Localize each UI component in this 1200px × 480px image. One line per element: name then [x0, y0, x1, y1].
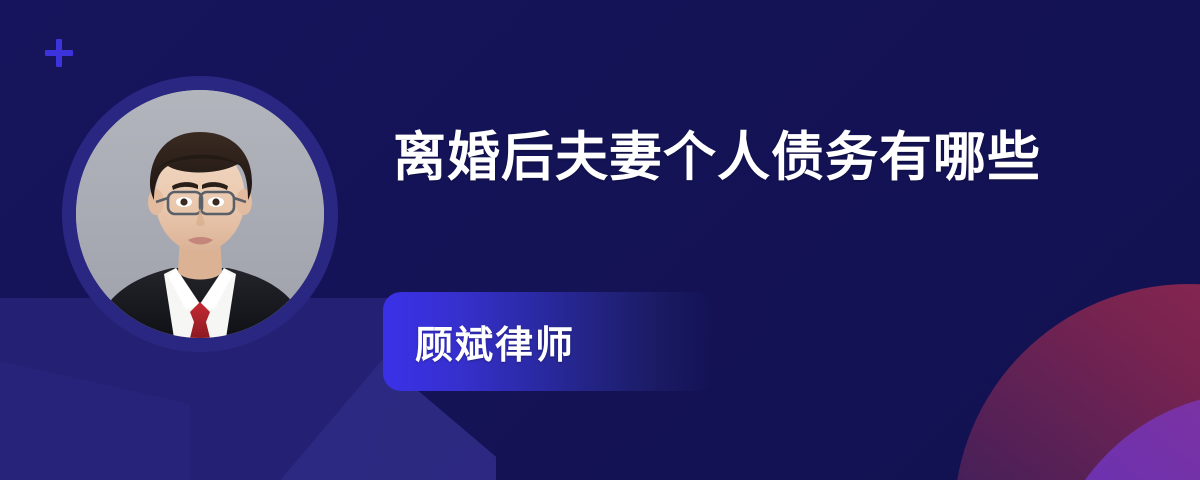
- avatar-ring: [62, 76, 338, 352]
- presenter-name-label: 顾斌律师: [383, 314, 575, 369]
- video-cover-card: 离婚后夫妻个人债务有哪些 顾斌律师: [0, 0, 1200, 480]
- page-title: 离婚后夫妻个人债务有哪些: [393, 118, 1093, 198]
- presenter-name-chip[interactable]: 顾斌律师: [383, 292, 713, 391]
- avatar: [76, 90, 324, 338]
- portrait-photo: [76, 90, 324, 338]
- plus-icon: [45, 39, 73, 67]
- decorative-polygon-lower-left: [0, 352, 190, 480]
- text-content: 离婚后夫妻个人债务有哪些: [393, 118, 1093, 198]
- decorative-orb-outer: [954, 284, 1200, 480]
- decorative-orb-inner: [1046, 392, 1200, 480]
